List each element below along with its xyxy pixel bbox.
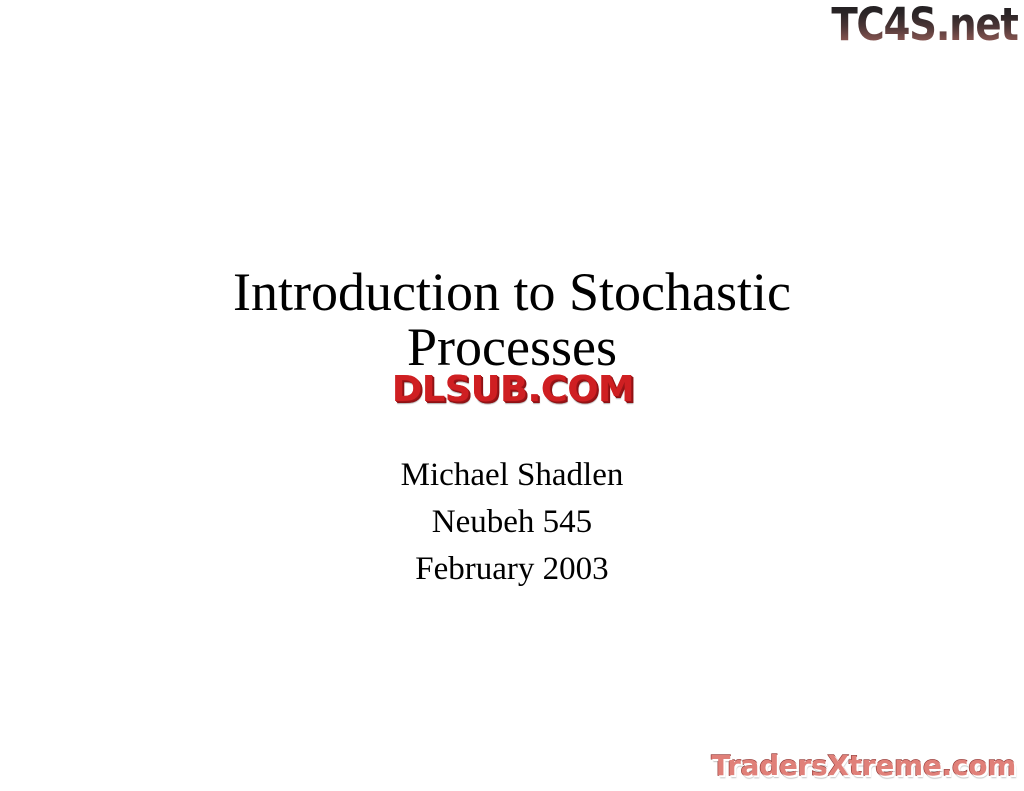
tc4s-logo: TC4S.net	[832, 0, 1018, 50]
subtitle-date: February 2003	[0, 546, 1024, 593]
presentation-slide: TC4S.net Introduction to Stochastic Proc…	[0, 0, 1024, 791]
subtitle-author: Michael Shadlen	[0, 452, 1024, 499]
subtitle-course: Neubeh 545	[0, 499, 1024, 546]
slide-subtitle: Michael Shadlen Neubeh 545 February 2003	[0, 452, 1024, 593]
title-line-1: Introduction to Stochastic	[0, 265, 1024, 320]
tradersxtreme-watermark: TradersXtreme.com	[711, 749, 1016, 783]
title-line-2: Processes	[0, 320, 1024, 375]
slide-title: Introduction to Stochastic Processes	[0, 265, 1024, 375]
